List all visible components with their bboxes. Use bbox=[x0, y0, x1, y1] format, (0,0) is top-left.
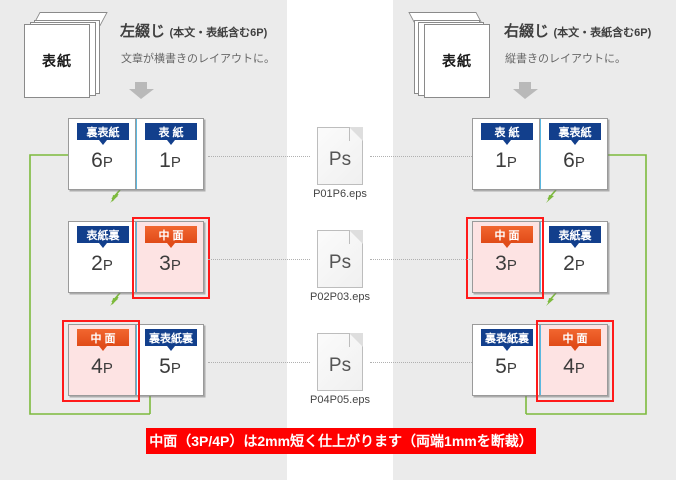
file-link-line bbox=[208, 362, 310, 363]
page-number: 5P bbox=[473, 355, 539, 379]
file-name-label: P04P05.eps bbox=[270, 394, 410, 406]
notice-banner: 中面（3P/4P）は2mm短く仕上がります（両端1mmを断裁） bbox=[146, 428, 536, 454]
page-number: 6P bbox=[541, 149, 607, 173]
file-fold-line bbox=[349, 230, 363, 244]
file-link-line bbox=[208, 156, 310, 157]
page-tag: 裏表紙裏 bbox=[481, 329, 533, 346]
page-tag-label: 表紙裏 bbox=[559, 227, 592, 243]
page-cell: 裏表紙裏 5P bbox=[472, 324, 540, 396]
page-number: 1P bbox=[473, 149, 539, 173]
file-fold-line bbox=[349, 127, 363, 141]
file-link-line bbox=[370, 156, 472, 157]
page-cell: 表紙裏 2P bbox=[540, 221, 608, 293]
file-fold-line bbox=[349, 333, 363, 347]
page-tag-label: 裏表紙裏 bbox=[485, 330, 529, 346]
spread-gutter bbox=[540, 119, 541, 189]
page-tag-label: 裏表紙 bbox=[559, 124, 592, 140]
page-tag: 表 紙 bbox=[481, 123, 533, 140]
page-tag: 裏表紙 bbox=[549, 123, 601, 140]
page-tag: 表紙裏 bbox=[549, 226, 601, 243]
page-number: 2P bbox=[541, 252, 607, 276]
notice-banner-text: 中面（3P/4P）は2mm短く仕上がります（両端1mmを断裁） bbox=[149, 431, 533, 451]
file-glyph: Ps bbox=[317, 149, 363, 171]
file-glyph: Ps bbox=[317, 355, 363, 377]
photoshop-file-icon[interactable]: Ps bbox=[317, 333, 363, 391]
right-spread-1: 表 紙 1P 裏表紙 6P bbox=[472, 118, 608, 190]
file-glyph: Ps bbox=[317, 252, 363, 274]
page-tag-label: 表 紙 bbox=[494, 124, 519, 140]
inner-page-trim-marker bbox=[466, 217, 544, 299]
file-link-line bbox=[208, 259, 310, 260]
right-spread-3: 裏表紙裏 5P 中 面 4P bbox=[472, 324, 608, 396]
photoshop-file-icon[interactable]: Ps bbox=[317, 127, 363, 185]
photoshop-file-icon[interactable]: Ps bbox=[317, 230, 363, 288]
file-link-line bbox=[370, 259, 472, 260]
file-name-label: P01P6.eps bbox=[270, 188, 410, 200]
page-cell: 裏表紙 6P bbox=[540, 118, 608, 190]
inner-page-trim-marker bbox=[536, 320, 614, 402]
diagram-canvas: 表紙 左綴じ (本文・表紙含む6P) 文章が横書きのレイアウトに。 bbox=[0, 0, 676, 480]
page-cell: 表 紙 1P bbox=[472, 118, 540, 190]
file-link-line bbox=[370, 362, 472, 363]
right-spread-2: 中 面 3P 表紙裏 2P bbox=[472, 221, 608, 293]
file-name-label: P02P03.eps bbox=[270, 291, 410, 303]
